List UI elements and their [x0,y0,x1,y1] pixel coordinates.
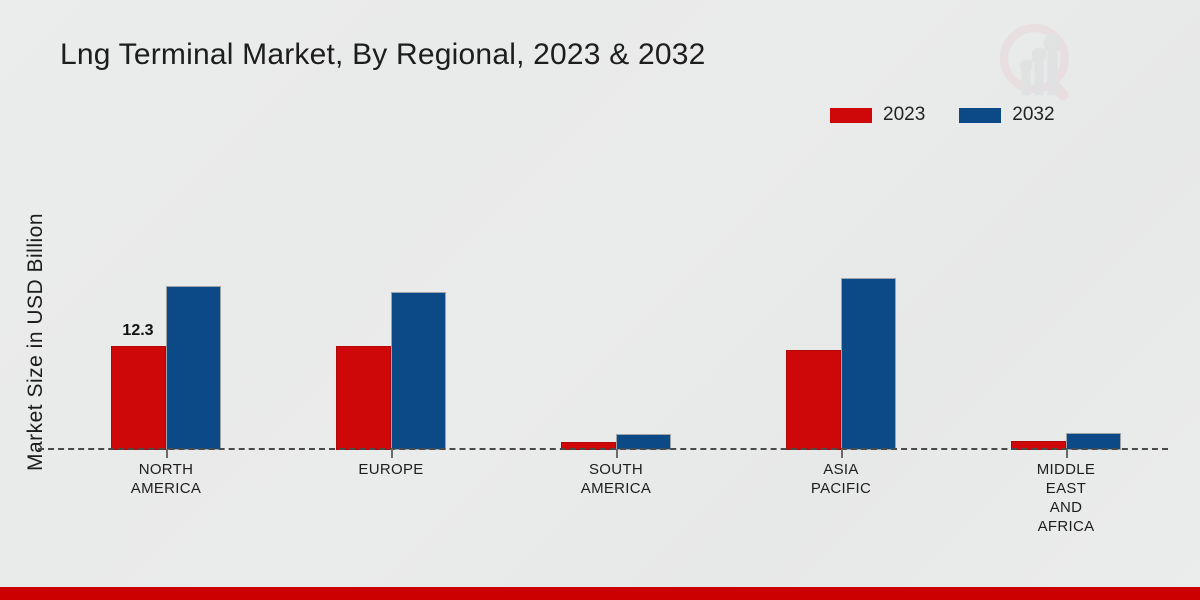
magnifier-bar-chart-icon [993,18,1085,110]
x-axis-category-label: SOUTH AMERICA [581,460,651,498]
legend-swatch-2032 [959,108,1001,123]
bar-2032[interactable] [841,278,896,450]
x-axis-category-label: MIDDLE EAST AND AFRICA [1037,460,1095,536]
bar-group [335,292,447,450]
x-axis-tick [391,449,393,458]
bar-2023[interactable] [786,350,841,450]
bar-2032[interactable] [166,286,221,450]
chart-title: Lng Terminal Market, By Regional, 2023 &… [60,38,706,72]
watermark-logo [993,18,1085,110]
x-axis-tick [166,449,168,458]
chart-legend: 2023 2032 [830,104,1055,126]
bar-value-label: 12.3 [122,322,153,340]
x-axis-tick [1066,449,1068,458]
axis-baseline [38,448,1168,450]
x-axis-tick [616,449,618,458]
chart-figure: Lng Terminal Market, By Regional, 2023 &… [0,0,1200,600]
x-axis-category-label: EUROPE [358,460,423,479]
legend-item-2023[interactable]: 2023 [830,104,925,126]
x-axis-category-label: NORTH AMERICA [131,460,201,498]
legend-label-2023: 2023 [883,104,925,126]
bar-group [785,278,897,450]
bar-group [110,286,222,450]
bar-2032[interactable] [391,292,446,450]
footer-accent-bar [0,587,1200,600]
x-axis-tick [841,449,843,458]
legend-item-2032[interactable]: 2032 [959,104,1054,126]
bar-2023[interactable] [111,346,166,450]
legend-swatch-2023 [830,108,872,123]
plot-area [38,160,1168,450]
legend-label-2032: 2032 [1012,104,1054,126]
bar-2023[interactable] [336,346,391,450]
x-axis-category-label: ASIA PACIFIC [811,460,871,498]
